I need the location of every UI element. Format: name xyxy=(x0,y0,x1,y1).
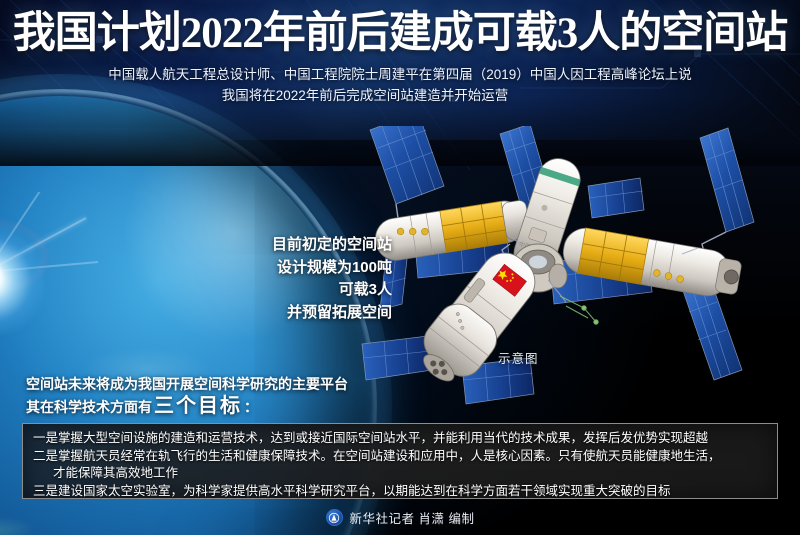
spec-line-2: 设计规模为100吨 xyxy=(180,257,392,280)
spec-line-3: 可载3人 xyxy=(180,279,392,302)
xinhua-logo-icon xyxy=(326,509,343,526)
goal-3-text: 三是建设国家太空实验室，为科学家提供高水平科学研究平台，以期能达到在科学方面若干… xyxy=(33,484,671,498)
goal-item-3: 三是建设国家太空实验室，为科学家提供高水平科学研究平台，以期能达到在科学方面若干… xyxy=(33,483,769,501)
subtitle-line-1: 中国载人航天工程总设计师、中国工程院院士周建平在第四届（2019）中国人因工程高… xyxy=(0,64,800,85)
goals-list-box: 一是掌握大型空间设施的建造和运营技术，达到或接近国际空间站水平，并能利用当代的技… xyxy=(22,423,778,499)
space-station-illustration: 中国空间站 xyxy=(352,126,800,414)
page-title: 我国计划2022年前后建成可载3人的空间站 xyxy=(0,8,800,60)
subtitle-line-2: 我国将在2022年前后完成空间站建造并开始运营 xyxy=(0,85,800,106)
solar-panel-right-horizontal-upper xyxy=(588,178,644,218)
lower-headline-line-2: 其在科学技术方面有 三个目标 ： xyxy=(26,395,766,419)
credit-text: 新华社记者 肖潇 编制 xyxy=(350,508,475,527)
xinhua-logo-glyph xyxy=(329,512,340,523)
subtitle: 中国载人航天工程总设计师、中国工程院院士周建平在第四届（2019）中国人因工程高… xyxy=(0,64,800,106)
solar-panel-upper-left xyxy=(370,126,444,226)
credit-line: 新华社记者 肖潇 编制 xyxy=(0,508,800,527)
lower-headline-colon: ： xyxy=(244,396,258,419)
goal-item-2: 二是掌握航天员经常在轨飞行的生活和健康保障技术。在空间站建设和应用中，人是核心因… xyxy=(33,448,769,483)
infographic-poster: 中国空间站 xyxy=(0,0,800,535)
goal-item-1: 一是掌握大型空间设施的建造和运营技术，达到或接近国际空间站水平，并能利用当代的技… xyxy=(33,430,769,448)
goal-2-text: 二是掌握航天员经常在轨飞行的生活和健康保障技术。在空间站建设和应用中，人是核心因… xyxy=(33,449,721,463)
goal-1-text: 一是掌握大型空间设施的建造和运营技术，达到或接近国际空间站水平，并能利用当代的技… xyxy=(33,431,708,445)
goal-2-continuation: 才能保障其高效地工作 xyxy=(33,465,769,483)
spec-line-4: 并预留拓展空间 xyxy=(180,302,392,325)
schematic-caption: 示意图 xyxy=(498,348,539,367)
sun-flare xyxy=(0,226,44,334)
station-spec-block: 目前初定的空间站 设计规模为100吨 可载3人 并预留拓展空间 xyxy=(180,234,392,324)
lower-headline-line-1: 空间站未来将成为我国开展空间科学研究的主要平台 xyxy=(26,374,766,395)
lower-headline-emphasis: 三个目标 xyxy=(154,395,242,418)
solar-panel-upper-right xyxy=(700,128,754,252)
spec-line-1: 目前初定的空间站 xyxy=(180,234,392,257)
lower-headline: 空间站未来将成为我国开展空间科学研究的主要平台 其在科学技术方面有 三个目标 ： xyxy=(26,374,766,419)
lower-headline-prefix: 其在科学技术方面有 xyxy=(26,396,152,419)
